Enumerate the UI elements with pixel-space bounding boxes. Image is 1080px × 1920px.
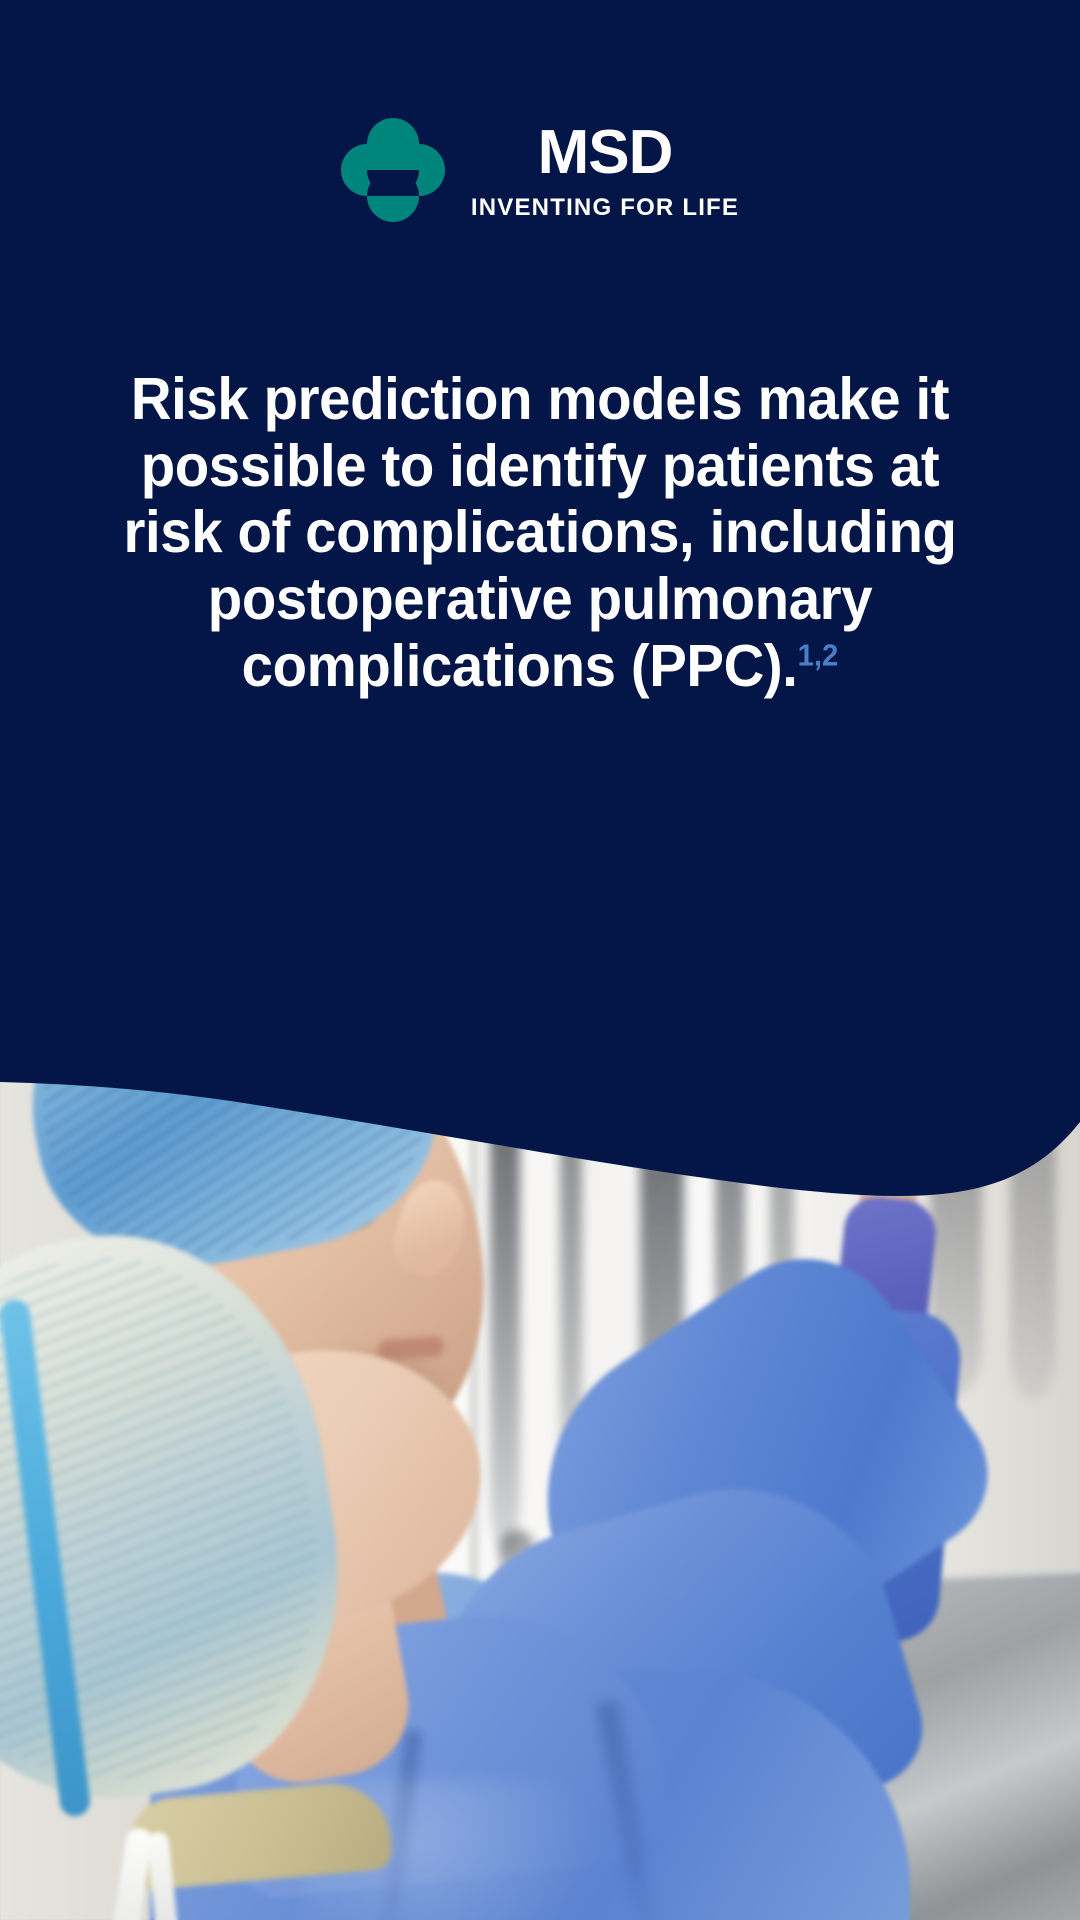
- photo-scene: [0, 880, 1080, 1920]
- page-title: Risk prediction models make it possible …: [110, 366, 970, 699]
- headline-line-text: complications (PPC).: [242, 633, 798, 699]
- msd-tagline: INVENTING FOR LIFE: [471, 196, 739, 220]
- hero-photograph: [0, 880, 1080, 1920]
- msd-wordmark: MSD: [538, 122, 673, 184]
- xray-film: [1010, 1000, 1056, 1400]
- headline-line: risk of complications, including: [110, 499, 970, 566]
- citation-superscript: 1,2: [798, 637, 839, 672]
- msd-logo-text: MSD INVENTING FOR LIFE: [471, 118, 739, 220]
- headline-line: postoperative pulmonary: [110, 566, 970, 633]
- slide-root: MSD INVENTING FOR LIFE Risk prediction m…: [0, 0, 1080, 1920]
- msd-trefoil-icon: [341, 118, 445, 222]
- headline-line: possible to identify patients at: [110, 433, 970, 500]
- msd-logo: MSD INVENTING FOR LIFE: [0, 118, 1080, 222]
- headline-line-with-citation: complications (PPC).1,2: [110, 633, 970, 700]
- headline-line: Risk prediction models make it: [110, 366, 970, 433]
- xray-film: [490, 998, 520, 1558]
